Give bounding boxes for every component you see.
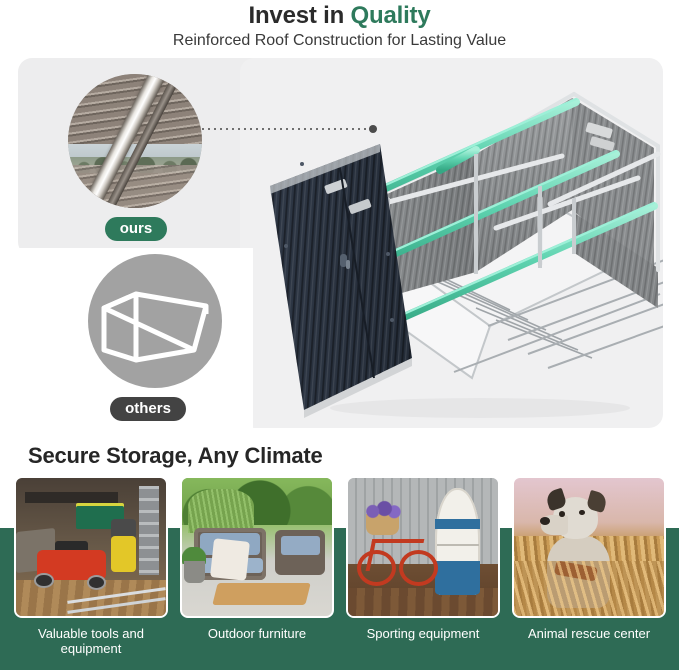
page-title-plain: Invest in [249, 2, 351, 29]
surfboard-stripe-lower [435, 561, 480, 596]
card-caption: Valuable tools and equipment [14, 626, 168, 656]
ladder-shape [139, 486, 159, 574]
roof-beam-photo [68, 74, 202, 208]
ours-detail-photo [68, 74, 202, 208]
dog-eye-left [559, 511, 565, 517]
page-title-accent: Quality [351, 2, 431, 29]
throw-blanket-shape [210, 538, 250, 580]
wireframe-box-icon [88, 254, 222, 388]
use-case-cards: Valuable tools and equipment Outdoor fur… [0, 476, 679, 670]
dog-nose-shape [540, 517, 551, 525]
cushion-back-shape [281, 536, 320, 555]
use-case-card[interactable]: Animal rescue center [512, 476, 666, 618]
foreground-wheat-shape [514, 561, 664, 616]
bicycle-wheel-front [357, 550, 396, 586]
shelf-line-shape [437, 544, 479, 546]
dog-eye-right [579, 510, 585, 516]
ornamental-grass-shape [188, 489, 254, 533]
use-case-card[interactable]: Valuable tools and equipment [14, 476, 168, 618]
planter-pot-shape [184, 561, 205, 583]
ours-badge: ours [105, 217, 167, 241]
infographic-page: Invest in Quality Reinforced Roof Constr… [0, 0, 679, 670]
section-heading: Secure Storage, Any Climate [28, 443, 323, 469]
page-title: Invest in Quality [0, 2, 679, 30]
mower-wheel-right [87, 575, 107, 590]
vacuum-body-shape [111, 536, 137, 572]
bicycle-photo [346, 476, 500, 618]
outdoor-rug-shape [212, 583, 311, 605]
flowers-shape [363, 500, 402, 519]
shed-cutaway-diagram [240, 58, 663, 428]
card-caption: Animal rescue center [512, 626, 666, 641]
card-caption: Outdoor furniture [180, 626, 334, 641]
shelf-shape [25, 492, 118, 503]
dog-in-field-photo [512, 476, 666, 618]
bicycle-wheel-rear [399, 550, 438, 586]
others-badge: others [110, 397, 186, 421]
use-case-card[interactable]: Outdoor furniture [180, 476, 334, 618]
card-caption: Sporting equipment [346, 626, 500, 641]
garage-tools-photo [14, 476, 168, 618]
use-case-card[interactable]: Sporting equipment [346, 476, 500, 618]
others-illustration [88, 254, 222, 388]
patio-furniture-photo [180, 476, 334, 618]
page-subtitle: Reinforced Roof Construction for Lasting… [0, 32, 679, 50]
surfboard-stripe-upper [435, 519, 480, 529]
mower-wheel-left [34, 573, 54, 588]
hero-panel: ours others [18, 58, 663, 428]
